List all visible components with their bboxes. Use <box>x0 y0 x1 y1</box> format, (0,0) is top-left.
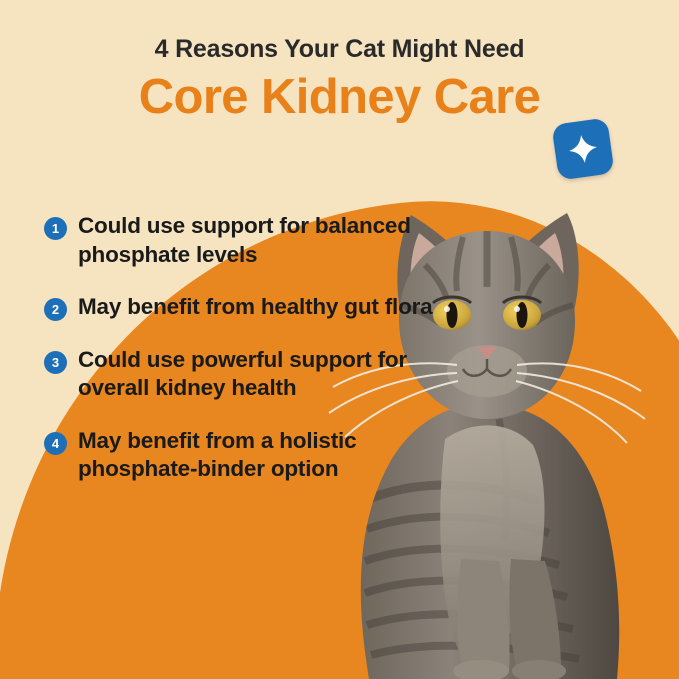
list-item-text: May benefit from a holistic phosphate-bi… <box>78 427 464 484</box>
list-item-number: 2 <box>44 298 67 321</box>
list-item-text: Could use support for balanced phosphate… <box>78 212 464 269</box>
list-item-number: 3 <box>44 351 67 374</box>
poster-canvas: 4 Reasons Your Cat Might Need Core Kidne… <box>0 0 679 679</box>
poster-title: Core Kidney Care <box>0 72 679 123</box>
list-item-number: 1 <box>44 217 67 240</box>
list-item-text: May benefit from healthy gut flora <box>78 293 433 322</box>
poster-subtitle: 4 Reasons Your Cat Might Need <box>0 36 679 64</box>
list-item: 2 May benefit from healthy gut flora <box>44 293 464 322</box>
list-item-number: 4 <box>44 432 67 455</box>
list-item-text: Could use powerful support for overall k… <box>78 346 464 403</box>
star-badge-icon <box>551 117 614 180</box>
heading-block: 4 Reasons Your Cat Might Need Core Kidne… <box>0 36 679 123</box>
list-item: 3 Could use powerful support for overall… <box>44 346 464 403</box>
list-item: 4 May benefit from a holistic phosphate-… <box>44 427 464 484</box>
reasons-list: 1 Could use support for balanced phospha… <box>44 212 464 508</box>
list-item: 1 Could use support for balanced phospha… <box>44 212 464 269</box>
